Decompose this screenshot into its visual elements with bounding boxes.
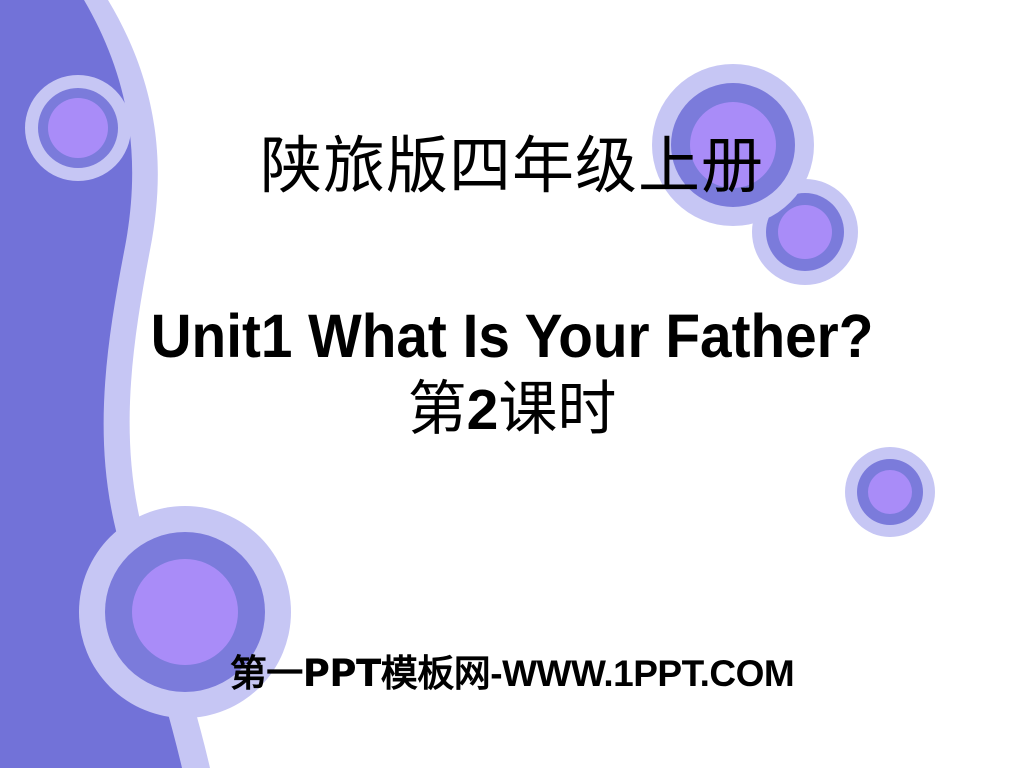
footer-separator: - bbox=[490, 653, 502, 694]
lesson-number: 2 bbox=[467, 378, 499, 442]
footer-site-url: WWW.1PPT.COM bbox=[502, 653, 794, 694]
footer-site-name-cn: 第一PPT模板网 bbox=[230, 652, 490, 695]
lesson-suffix: 课时 bbox=[498, 376, 616, 442]
slide-main-title: Unit1 What Is Your Father? bbox=[36, 306, 988, 367]
lesson-prefix: 第 bbox=[408, 376, 467, 442]
edition-subtitle: 陕旅版四年级上册 bbox=[0, 136, 1024, 198]
presentation-slide: 陕旅版四年级上册 Unit1 What Is Your Father? 第2课时… bbox=[0, 0, 1024, 768]
footer-credit: 第一PPT模板网-WWW.1PPT.COM bbox=[0, 655, 1024, 692]
slide-text-layer: 陕旅版四年级上册 Unit1 What Is Your Father? 第2课时… bbox=[0, 0, 1024, 768]
lesson-period-line: 第2课时 bbox=[0, 380, 1024, 439]
